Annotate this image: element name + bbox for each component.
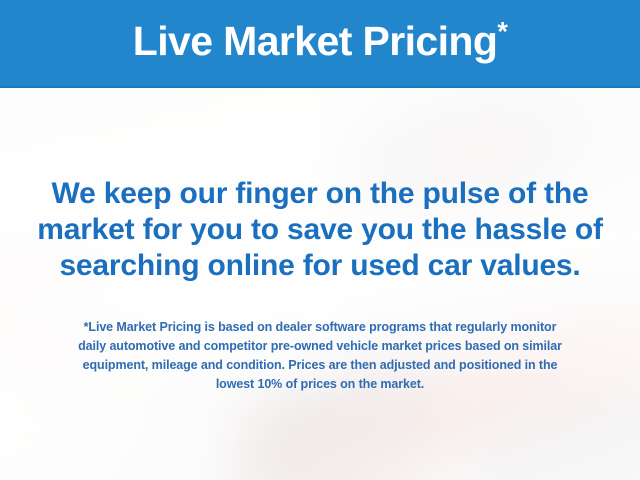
disclaimer-line: daily automotive and competitor pre-owne… <box>0 337 640 356</box>
headline-block: We keep our finger on the pulse of the m… <box>0 176 640 284</box>
disclaimer-line: *Live Market Pricing is based on dealer … <box>0 318 640 337</box>
disclaimer-line: equipment, mileage and condition. Prices… <box>0 356 640 375</box>
live-market-pricing-banner: Live Market Pricing* We keep our finger … <box>0 0 640 480</box>
page-title-asterisk: * <box>497 16 507 46</box>
header-banner: Live Market Pricing* <box>0 0 640 88</box>
disclaimer-line: lowest 10% of prices on the market. <box>0 375 640 394</box>
headline-line: searching online for used car values. <box>0 248 640 284</box>
page-title: Live Market Pricing* <box>133 21 508 66</box>
page-title-text: Live Market Pricing <box>133 18 498 64</box>
disclaimer-block: *Live Market Pricing is based on dealer … <box>0 318 640 394</box>
headline-line: market for you to save you the hassle of <box>0 212 640 248</box>
headline-line: We keep our finger on the pulse of the <box>0 176 640 212</box>
